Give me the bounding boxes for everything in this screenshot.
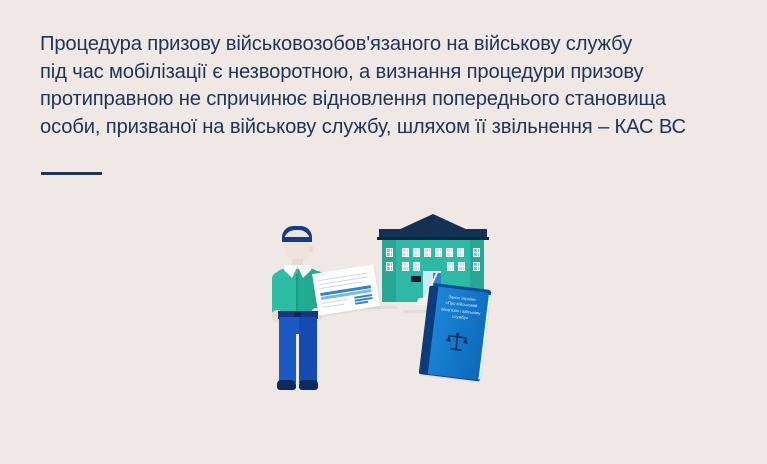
building-window [424,248,431,257]
ear [309,246,313,252]
page-title: Процедура призову військовозобов'язаного… [40,31,745,141]
head [284,230,310,262]
letter-line [322,303,344,308]
letter-stamp-line [355,301,368,305]
building-window [447,262,454,271]
scales-of-justice-icon [443,329,470,356]
building-signboard [411,276,421,282]
building-window [473,262,480,271]
shoe-right [299,380,318,390]
building-window [402,248,409,257]
building-window [435,248,442,257]
building-window [446,248,453,257]
title-underline-rule [41,172,102,175]
building-window [413,248,420,257]
building-window [457,248,464,257]
conscript-man-illustration [260,222,370,394]
trouser-gap [296,334,299,383]
shoe-left [277,380,296,390]
shirt-placket [296,274,298,314]
building-window [413,262,420,271]
draft-summons-letter-illustration [312,264,380,315]
building-window [386,248,393,257]
building-window [386,262,393,271]
building-window [473,248,480,257]
hair-fringe [282,237,312,242]
building-window [458,262,465,271]
law-book-illustration: Закон України «Про військовий обов'язок … [419,283,492,383]
trousers-shade [299,317,317,383]
infographic-card: Процедура призову військовозобов'язаного… [0,0,767,464]
building-window [402,262,409,271]
book-title: Закон України «Про військовий обов'язок … [437,293,485,323]
illustration: Закон України «Про військовий обов'язок … [0,196,767,406]
